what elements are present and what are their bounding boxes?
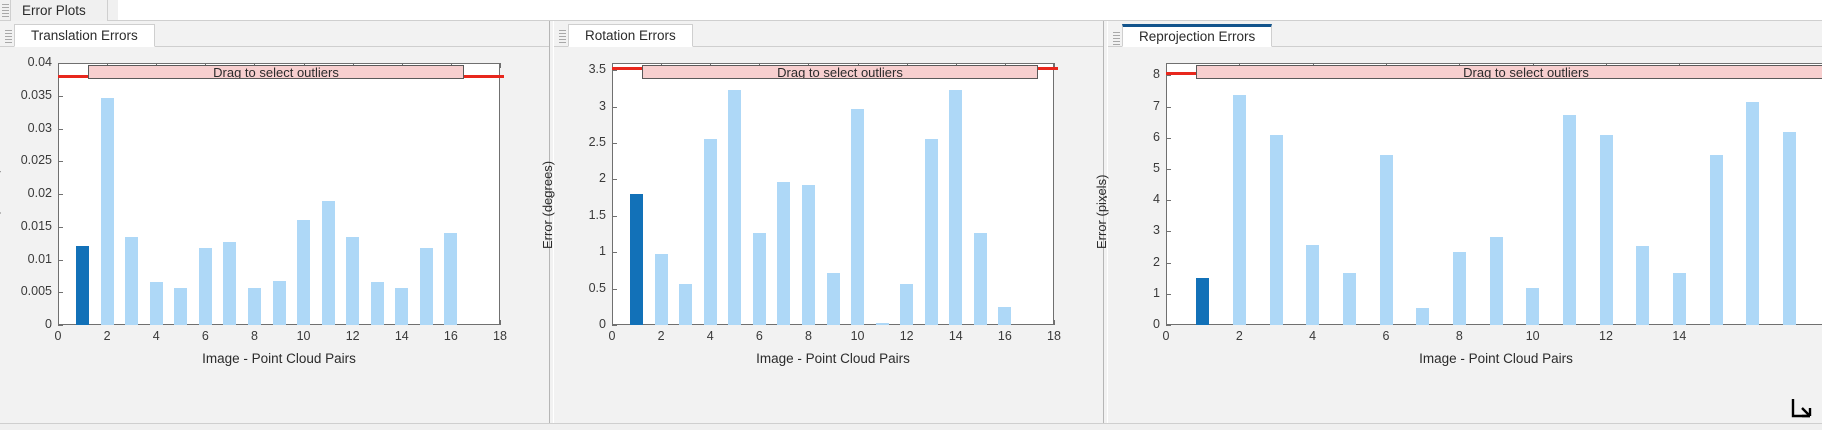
tab-grip-icon[interactable] [1113,32,1120,45]
x-axis-tick-label: 4 [136,329,176,343]
outlier-drag-band[interactable]: Drag to select outliers [1196,65,1822,79]
x-axis-tick-mark-top [1166,63,1167,68]
y-axis-tick-mark [612,70,617,71]
y-axis-tick-mark [612,179,617,180]
y-axis-tick-label: 1 [1110,286,1160,300]
bar[interactable] [346,237,359,325]
panel-reprojection-errors: Reprojection Errors 01234567802468101214… [1108,21,1822,430]
bar[interactable] [1636,246,1649,325]
y-axis-tick-mark [58,96,63,97]
bar[interactable] [199,248,212,325]
x-axis-tick-label: 8 [234,329,274,343]
y-axis-tick-label: 0.035 [2,88,52,102]
y-axis-tick-mark [1166,294,1171,295]
x-axis-label: Image - Point Cloud Pairs [1166,351,1822,366]
bar[interactable] [1343,273,1356,325]
bar[interactable] [1306,245,1319,325]
tab-grip-icon[interactable] [559,30,566,43]
y-axis-tick-label: 8 [1110,67,1160,81]
bar[interactable] [1526,288,1539,325]
tab-translation-errors[interactable]: Translation Errors [14,24,155,47]
y-axis-tick-mark [612,289,617,290]
tab-label: Reprojection Errors [1139,29,1255,44]
x-axis-tick-mark-top [58,63,59,68]
bar[interactable] [1600,135,1613,325]
x-axis-tick-label: 12 [887,329,927,343]
bar[interactable] [728,90,741,325]
tab-reprojection-errors[interactable]: Reprojection Errors [1122,24,1272,47]
y-axis-tick-mark [58,227,63,228]
bar[interactable] [1673,273,1686,325]
x-axis-tick-label: 6 [185,329,225,343]
bar[interactable] [1490,237,1503,325]
bar[interactable] [125,237,138,325]
bar[interactable] [949,90,962,325]
bar[interactable] [876,323,889,325]
y-axis-tick-label: 1 [556,244,606,258]
x-axis-label: Image - Point Cloud Pairs [58,351,500,366]
x-axis-tick-label: 8 [1439,329,1479,343]
document-tab-error-plots[interactable]: Error Plots [10,0,108,21]
document-tab-label: Error Plots [22,3,86,18]
y-axis-tick-label: 2.5 [556,135,606,149]
tab-grip-icon[interactable] [2,4,9,17]
x-axis-tick-label: 6 [739,329,779,343]
y-axis-tick-label: 0.02 [2,186,52,200]
bar[interactable] [297,220,310,325]
y-axis-tick-mark [58,161,63,162]
outlier-band-label: Drag to select outliers [777,65,903,79]
bar[interactable] [1746,102,1759,325]
x-axis-tick-mark [58,320,59,325]
bar[interactable] [925,139,938,325]
y-axis-tick-label: 4 [1110,192,1160,206]
bar[interactable] [1380,155,1393,325]
x-axis-tick-mark [1054,320,1055,325]
x-axis-tick-label: 16 [985,329,1025,343]
x-axis-tick-mark [612,320,613,325]
x-axis-tick-mark [1166,320,1167,325]
y-axis-tick-label: 0.04 [2,55,52,69]
x-axis-tick-label: 6 [1366,329,1406,343]
y-axis-tick-mark [1166,231,1171,232]
panel-translation-errors: Translation Errors 00.0050.010.0150.020.… [0,21,549,430]
y-axis-tick-mark [612,325,617,326]
y-axis-tick-mark [58,129,63,130]
bar[interactable] [273,281,286,325]
y-axis-tick-label: 7 [1110,99,1160,113]
bar[interactable] [1710,155,1723,325]
y-axis-tick-mark [1166,325,1171,326]
x-axis-tick-label: 16 [431,329,471,343]
y-axis-label: Error (pixels) [1094,175,1109,249]
bar[interactable] [1783,132,1796,325]
y-axis-tick-label: 6 [1110,130,1160,144]
document-tab-strip: Error Plots [0,0,1822,21]
y-axis-label: Error (meters) [0,168,1,249]
y-axis-tick-mark [1166,169,1171,170]
chart-translation-errors: 00.0050.010.0150.020.0250.030.0350.04024… [0,47,549,430]
y-axis-tick-mark [58,325,63,326]
x-axis-tick-label: 18 [480,329,520,343]
bar[interactable] [802,185,815,325]
bar[interactable] [974,233,987,325]
outlier-band-label: Drag to select outliers [213,65,339,79]
y-axis-tick-mark [1166,200,1171,201]
y-axis-tick-mark [1166,75,1171,76]
panel-rotation-errors: Rotation Errors 00.511.522.533.502468101… [554,21,1103,430]
outlier-drag-band[interactable]: Drag to select outliers [642,65,1038,79]
y-axis-tick-label: 3.5 [556,62,606,76]
x-axis-tick-mark-top [500,63,501,68]
y-axis-tick-mark [612,216,617,217]
x-axis-tick-label: 2 [1219,329,1259,343]
y-axis-tick-mark [1166,263,1171,264]
bar[interactable] [851,109,864,325]
document-tab-strip-filler [118,0,1822,21]
bar[interactable] [248,288,261,325]
panel-tabrow-3: Reprojection Errors [1108,21,1822,47]
tab-label: Rotation Errors [585,28,676,43]
x-axis-tick-label: 12 [333,329,373,343]
x-axis-label: Image - Point Cloud Pairs [612,351,1054,366]
x-axis-tick-label: 12 [1586,329,1626,343]
x-axis-tick-label: 8 [788,329,828,343]
x-axis-tick-label: 18 [1034,329,1074,343]
bar[interactable] [174,288,187,325]
bar[interactable] [900,284,913,325]
x-axis-tick-label: 14 [382,329,422,343]
x-axis-tick-label: 10 [1513,329,1553,343]
bar[interactable] [753,233,766,325]
y-axis-tick-label: 5 [1110,161,1160,175]
y-axis-tick-label: 0.01 [2,252,52,266]
y-axis-tick-mark [612,143,617,144]
bar[interactable] [223,242,236,325]
y-axis-tick-label: 0.03 [2,121,52,135]
x-axis-tick-label: 10 [284,329,324,343]
y-axis-tick-label: 3 [1110,223,1160,237]
x-axis-tick-label: 14 [936,329,976,343]
bar[interactable] [1416,308,1429,325]
y-axis-tick-mark [58,260,63,261]
x-axis-tick-label: 14 [1659,329,1699,343]
y-axis-tick-label: 2 [556,171,606,185]
x-axis-tick-label: 4 [690,329,730,343]
y-axis-tick-label: 0.025 [2,153,52,167]
tab-rotation-errors[interactable]: Rotation Errors [568,24,693,47]
y-axis-tick-mark [1166,107,1171,108]
bar[interactable] [76,246,89,325]
plot-panels: Translation Errors 00.0050.010.0150.020.… [0,21,1822,430]
panel-tabrow-1: Translation Errors [0,21,549,47]
tab-label: Translation Errors [31,28,138,43]
bar[interactable] [655,254,668,325]
bar[interactable] [630,194,643,325]
tab-grip-icon[interactable] [5,30,12,43]
x-axis-tick-label: 2 [641,329,681,343]
panel-tabrow-2: Rotation Errors [554,21,1103,47]
bar[interactable] [1270,135,1283,325]
bar[interactable] [420,248,433,325]
y-axis-tick-label: 3 [556,99,606,113]
chart-rotation-errors: 00.511.522.533.5024681012141618Drag to s… [554,47,1103,430]
bar[interactable] [150,282,163,325]
x-axis-tick-label: 10 [838,329,878,343]
x-axis-tick-label: 0 [1146,329,1186,343]
bar[interactable] [1196,278,1209,325]
y-axis-tick-mark [612,107,617,108]
bar[interactable] [1453,252,1466,325]
bar[interactable] [704,139,717,325]
bar[interactable] [827,273,840,325]
y-axis-tick-mark [1166,138,1171,139]
bar[interactable] [371,282,384,325]
y-axis-tick-mark [612,252,617,253]
y-axis-tick-label: 1.5 [556,208,606,222]
window-bottom-bar [0,423,1822,430]
y-axis-tick-label: 0.5 [556,281,606,295]
bar[interactable] [395,288,408,325]
x-axis-tick-label: 0 [38,329,78,343]
chart-reprojection-errors: 01234567802468101214Drag to select outli… [1108,47,1822,430]
y-axis-tick-label: 0.005 [2,284,52,298]
error-plots-window: Error Plots Translation Errors 00.0050.0… [0,0,1822,430]
bar[interactable] [444,233,457,325]
bar[interactable] [322,201,335,325]
outlier-drag-band[interactable]: Drag to select outliers [88,65,464,79]
x-axis-tick-label: 4 [1293,329,1333,343]
bar[interactable] [777,182,790,325]
x-axis-tick-label: 2 [87,329,127,343]
y-axis-tick-mark [58,292,63,293]
x-axis-tick-label: 0 [592,329,632,343]
x-axis-tick-mark [500,320,501,325]
bar[interactable] [679,284,692,325]
bar[interactable] [1563,115,1576,325]
bar[interactable] [1233,95,1246,325]
y-axis-label: Error (degrees) [540,161,555,249]
outlier-band-label: Drag to select outliers [1463,65,1589,79]
bar[interactable] [998,307,1011,325]
y-axis-tick-label: 0.015 [2,219,52,233]
y-axis-tick-mark [58,194,63,195]
bar[interactable] [101,98,114,325]
y-axis-tick-label: 2 [1110,255,1160,269]
